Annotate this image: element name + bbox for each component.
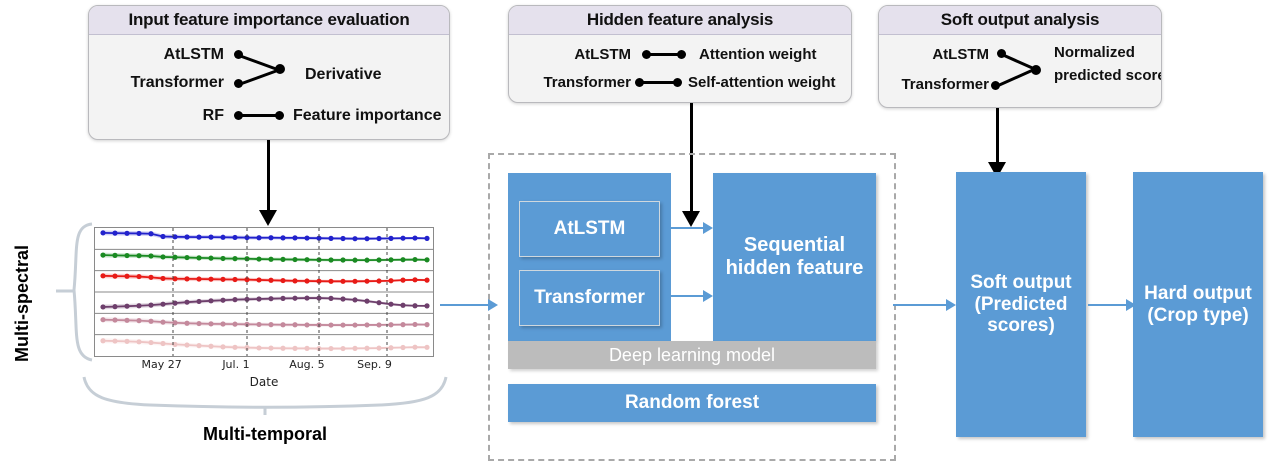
arrow-head-atlstm-to-sequential [703,222,713,234]
model-box-atlstm[interactable]: AtLSTM [519,201,660,257]
panel-body-input-feature-importance: AtLSTM Transformer RF Derivative Feature… [89,35,449,140]
soft-output-line1: Soft output [970,272,1071,294]
model-box-transformer-label: Transformer [534,287,645,309]
chart-xtick-0: May 27 [132,358,192,371]
label-transformer-p3: Transformer [881,76,989,93]
label-atlstm-p1: AtLSTM [99,46,224,64]
panel-title-hidden-feature-analysis: Hidden feature analysis [509,6,851,35]
connector-line-rf-p1 [238,114,278,117]
connector-line-transformer-merge-p1 [238,69,278,86]
arrow-line-panel3-to-soft-output [996,108,999,164]
soft-output-line2: (Predicted [975,294,1068,316]
arrow-head-panel1-to-chart [259,210,277,226]
random-forest-label: Random forest [625,392,759,414]
output-box-hard-output[interactable]: Hard output (Crop type) [1133,172,1263,437]
soft-output-line3: scores) [987,315,1055,337]
chart-svg [95,228,433,356]
label-atlstm-p3: AtLSTM [881,46,989,63]
arrow-line-panel1-to-chart [267,140,270,212]
model-box-sequential-hidden-feature[interactable]: Sequential hidden feature [713,173,876,341]
chart-xtick-2: Aug. 5 [277,358,337,371]
hard-output-line1: Hard output [1144,283,1252,305]
arrow-head-transformer-to-sequential [703,290,713,302]
label-predicted-score-p3: predicted score [1054,67,1162,84]
label-feature-importance-p1: Feature importance [293,107,441,125]
panel-hidden-feature-analysis: Hidden feature analysis AtLSTM Transform… [508,5,852,103]
connector-line-transformer-p2 [639,81,676,84]
connector-line-atlstm-p2 [646,53,680,56]
multispectral-timeseries-chart: May 27Jul. 1Aug. 5Sep. 9 Date [94,227,434,357]
sequential-hidden-feature-line1: Sequential [744,234,845,257]
arrow-head-chart-to-model [488,299,498,311]
arrow-head-model-to-soft-output [946,299,956,311]
sequential-hidden-feature-line2: hidden feature [726,257,864,280]
label-multi-spectral: Multi-spectral [12,222,33,362]
label-normalized-p3: Normalized [1054,44,1135,61]
panel-soft-output-analysis: Soft output analysis AtLSTM Transformer … [878,5,1162,108]
arrow-line-chart-to-model [440,304,490,306]
label-multi-temporal: Multi-temporal [160,424,370,445]
label-transformer-p1: Transformer [99,74,224,92]
arrow-line-model-to-soft-output [893,304,948,306]
label-attention-weight-p2: Attention weight [699,46,816,63]
arrow-line-atlstm-to-sequential [669,227,705,229]
arrow-line-transformer-to-sequential [669,295,705,297]
panel-title-input-feature-importance: Input feature importance evaluation [89,6,449,35]
arrow-line-soft-to-hard-output [1088,304,1128,306]
output-box-soft-output[interactable]: Soft output (Predicted scores) [956,172,1086,437]
model-box-transformer[interactable]: Transformer [519,270,660,326]
connector-line-atlstm-merge-p1 [238,54,278,71]
label-rf-p1: RF [99,107,224,125]
label-transformer-p2: Transformer [513,74,631,91]
chart-xtick-1: Jul. 1 [206,358,266,371]
chart-xtick-3: Sep. 9 [345,358,405,371]
label-self-attention-weight-p2: Self-attention weight [688,74,836,91]
model-box-random-forest[interactable]: Random forest [508,384,876,422]
label-derivative-p1: Derivative [305,66,382,84]
panel-body-hidden-feature-analysis: AtLSTM Transformer Attention weight Self… [509,35,851,103]
panel-input-feature-importance: Input feature importance evaluation AtLS… [88,5,450,140]
hard-output-line2: (Crop type) [1147,305,1248,327]
deep-learning-model-label: Deep learning model [609,345,775,366]
connector-line-transformer-merge-p3 [995,68,1035,88]
chart-plot-frame [94,227,434,357]
deep-learning-model-band: Deep learning model [508,341,876,369]
panel-body-soft-output-analysis: AtLSTM Transformer Normalized predicted … [879,35,1161,108]
label-atlstm-p2: AtLSTM [513,46,631,63]
model-box-atlstm-label: AtLSTM [554,218,626,240]
multispectral-bracket [56,220,96,365]
panel-title-soft-output-analysis: Soft output analysis [879,6,1161,35]
multitemporal-bracket [80,375,450,415]
